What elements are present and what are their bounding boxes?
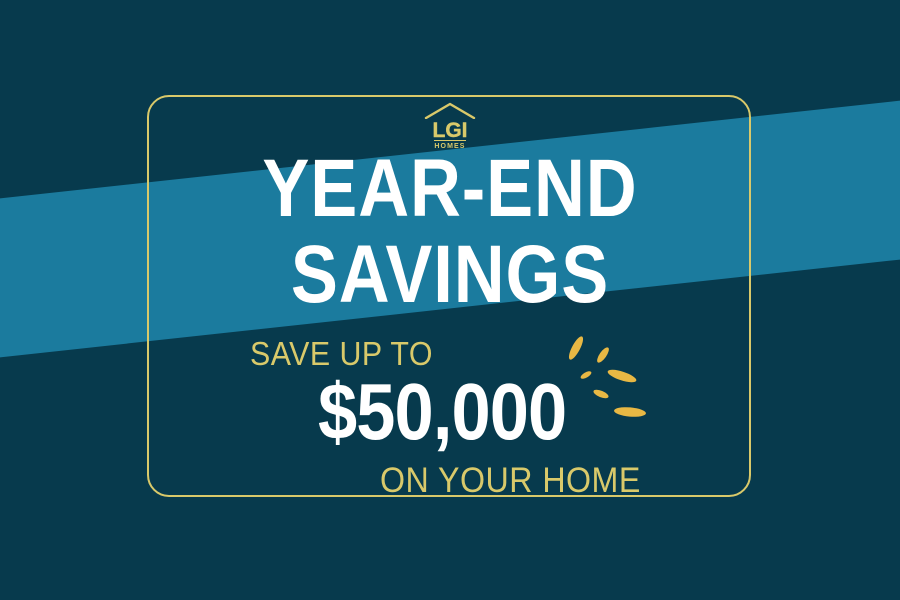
brand-logo-mark: LGI — [433, 122, 468, 140]
offer-block: SAVE UP TO $50,000 ON YOUR HOME — [0, 336, 900, 500]
headline-line-2: SAVINGS — [63, 232, 837, 318]
offer-amount: $50,000 — [318, 376, 830, 448]
offer-suffix-text: ON YOUR HOME — [380, 462, 858, 500]
promo-banner: LGI HOMES YEAR-END SAVINGS SAVE UP TO $5… — [0, 0, 900, 600]
headline-line-1: YEAR-END — [63, 146, 837, 232]
headline: YEAR-END SAVINGS — [0, 146, 900, 318]
